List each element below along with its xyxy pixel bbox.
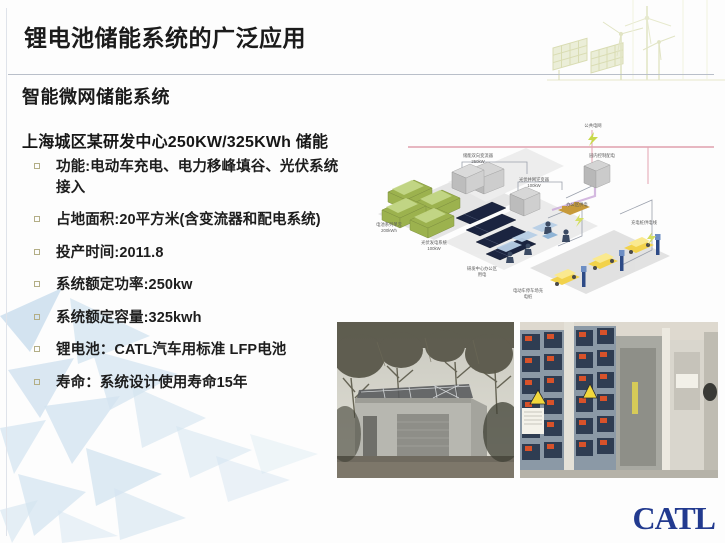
diagram-label-feed-line: 办公区供电 (566, 201, 588, 208)
diagram-label-battery-unit: 电池系列单元 (376, 221, 402, 228)
slide-canvas: 锂电池储能系统的广泛应用 智能微网储能系统 上海城区某研发中心250KW/325… (0, 0, 725, 543)
diagram-label-charge-line: 充电桩供电线 (631, 219, 657, 226)
list-item-label: 寿命：系统设计使用寿命15年 (56, 375, 248, 391)
bullet-square-icon (34, 216, 40, 222)
diagram-label-pv-system: 光伏发电系统 (421, 239, 447, 246)
list-item-label: 系统额定容量:325kwh (56, 310, 202, 326)
header-divider (8, 74, 714, 75)
list-item-label: 系统额定功率:250kw (56, 277, 193, 293)
project-headline: 上海城区某研发中心250KW/325KWh 储能 (22, 128, 328, 152)
photo-strip (337, 322, 718, 478)
list-item-label: 锂电池：CATL汽车用标准 LFP电池 (56, 342, 286, 358)
list-item: 系统额定功率:250kw (34, 275, 346, 296)
photo-battery-racks-image (520, 322, 718, 478)
diagram-label-converter-b: 光伏并网逆变器 (519, 176, 550, 183)
bullet-square-icon (34, 281, 40, 287)
page-title: 锂电池储能系统的广泛应用 (24, 19, 306, 53)
section-title: 智能微网储能系统 (22, 83, 170, 109)
bullet-square-icon (34, 379, 40, 385)
photo-building (337, 322, 514, 478)
diagram-label-converter-b-spec: 100kW (527, 183, 541, 188)
bullet-square-icon (34, 163, 40, 169)
diagram-label-converter-a-spec: 250kW (471, 159, 485, 164)
bullet-square-icon (34, 346, 40, 352)
diagram-label-office-load-2: 用电 (478, 271, 487, 278)
list-item: 系统额定容量:325kwh (34, 308, 346, 329)
diagram-label-public-grid: 公共电网 (584, 122, 601, 129)
list-item: 锂电池：CATL汽车用标准 LFP电池 (34, 340, 346, 361)
diagram-label-park-distribution: 园内控制配电 (589, 152, 615, 159)
diagram-label-converter-a: 储能双向变流器 (463, 152, 494, 159)
list-item-label: 功能:电动车充电、电力移峰填谷、光伏系统接入 (56, 159, 338, 196)
microgrid-diagram: 公共电网 园内控制配电 电池系列单元 200kWh 光伏发电系统 100kW 储… (352, 118, 718, 308)
diagram-label-ev-charging-2: 电桩 (524, 293, 533, 300)
diagram-label-office-load: 研发中心办公区 (467, 265, 498, 272)
catl-logo: CATL (632, 500, 715, 537)
diagram-label-pv-system-spec: 100kW (427, 246, 441, 251)
spec-bullet-list: 功能:电动车充电、电力移峰填谷、光伏系统接入 占地面积:20平方米(含变流器和配… (34, 157, 346, 406)
microgrid-schematic-svg: 公共电网 园内控制配电 电池系列单元 200kWh 光伏发电系统 100kW 储… (352, 118, 718, 308)
bullet-square-icon (34, 314, 40, 320)
list-item: 占地面积:20平方米(含变流器和配电系统) (34, 210, 346, 231)
bullet-square-icon (34, 249, 40, 255)
diagram-label-ev-charging: 电动车停车场充 (513, 287, 544, 294)
list-item: 功能:电动车充电、电力移峰填谷、光伏系统接入 (34, 157, 346, 198)
left-frame-rule (6, 8, 7, 536)
diagram-label-battery-unit-spec: 200kWh (381, 228, 397, 233)
list-item: 寿命：系统设计使用寿命15年 (34, 373, 346, 394)
list-item-label: 占地面积:20平方米(含变流器和配电系统) (56, 212, 321, 228)
list-item: 投产时间:2011.8 (34, 243, 346, 264)
photo-building-image (337, 322, 514, 478)
photo-battery-racks (520, 322, 718, 478)
list-item-label: 投产时间:2011.8 (56, 245, 163, 261)
